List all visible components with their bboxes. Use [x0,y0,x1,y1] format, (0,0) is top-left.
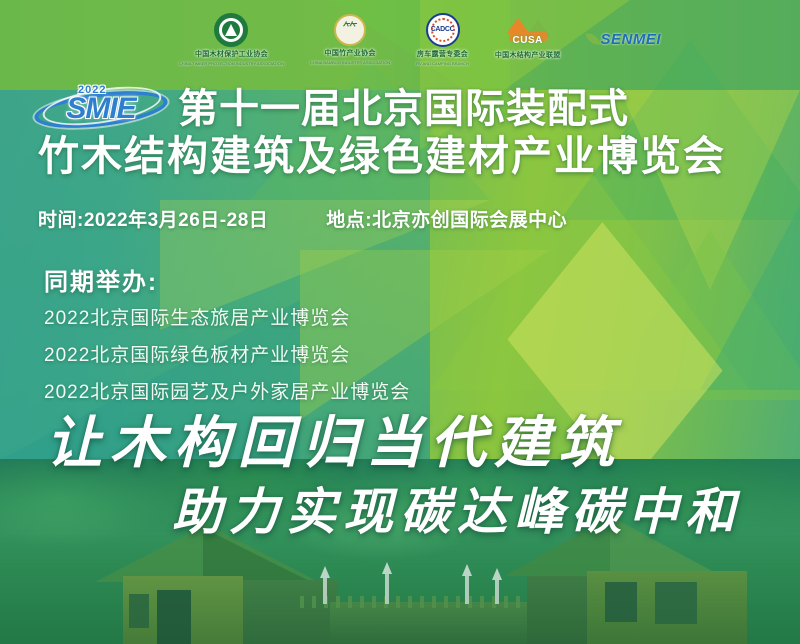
patio-umbrella-icon [320,566,330,604]
logo-bamboo-industry-association: ⺮ 中国竹产业协会 CHINA BAMBOO INDUSTRY ASSOCIAT… [310,14,390,65]
cabin-window [129,594,149,628]
pine-tree-circle-icon [214,13,248,47]
house-roof-icon: CUSA [505,18,551,48]
patio-umbrella-icon [462,564,472,604]
logo-senmei: SENMEI [587,31,662,48]
title-row-primary: 2022 SMIE 第十一届北京国际装配式 [0,86,800,132]
logo-mark-text: CUSA [505,35,551,46]
expo-poster: 中国木材保护工业协会 CHINA TIMBER PROTECTION INDUS… [0,0,800,644]
smie-logo: 2022 SMIE [32,86,172,132]
slogan-line1: 让木构回归当代建筑 [0,415,800,471]
event-meta: 时间:2022年3月26日-28日 地点:北京亦创国际会展中心 [38,205,778,232]
logo-caption: 房车露营专委会 [417,49,468,59]
title-block: 2022 SMIE 第十一届北京国际装配式 竹木结构建筑及绿色建材产业博览会 [0,86,800,180]
slogan-block: 让木构回归当代建筑 助力实现碳达峰碳中和 [0,415,800,537]
logo-subcaption: CHINA BAMBOO INDUSTRY ASSOCIATION [310,60,390,65]
concurrent-event-item: 2022北京国际生态旅居产业博览会 [44,309,410,328]
page-title-line2: 竹木结构建筑及绿色建材产业博览会 [38,134,800,180]
sponsor-logo-strip: 中国木材保护工业协会 CHINA TIMBER PROTECTION INDUS… [0,0,800,78]
polygon-facet [700,150,800,390]
smie-acronym: SMIE [46,94,156,124]
logo-china-timber-protection-association: 中国木材保护工业协会 CHINA TIMBER PROTECTION INDUS… [179,13,284,66]
logo-caption: 中国竹产业协会 [325,48,376,58]
logo-cusa-wood-structure-alliance: CUSA 中国木结构产业联盟 [495,18,561,60]
cabin-door [157,590,191,644]
concurrent-events: 同期举办: 2022北京国际生态旅居产业博览会 2022北京国际绿色板材产业博览… [44,262,410,420]
bamboo-seal-icon: ⺮ [334,14,366,46]
cabin-wall-side [527,576,587,644]
slogan-line2: 助力实现碳达峰碳中和 [0,487,800,537]
cadcc-badge-icon: CADCC [426,13,460,47]
concurrent-event-item: 2022北京国际绿色板材产业博览会 [44,346,410,365]
page-title-line1: 第十一届北京国际装配式 [178,87,629,132]
event-venue: 地点:北京亦创国际会展中心 [326,205,567,232]
concurrent-events-heading: 同期举办: [44,262,410,297]
patio-umbrella-icon [492,568,502,604]
logo-subcaption: RV AND CAMPING BRANCH [416,61,469,66]
patio-umbrella-icon [382,562,392,604]
cabin-window [655,582,697,624]
concurrent-event-item: 2022北京国际园艺及户外家居产业博览会 [44,383,410,402]
logo-subcaption: CHINA TIMBER PROTECTION INDUSTRY ASSOCIA… [179,61,284,66]
logo-caption: 中国木材保护工业协会 [195,49,268,59]
logo-caption: 中国木结构产业联盟 [495,50,561,60]
logo-mark-text: SENMEI [601,31,662,48]
cabin-window [605,582,637,622]
event-date: 时间:2022年3月26日-28日 [38,205,268,232]
logo-cadcc-rv-camping-committee: CADCC 房车露营专委会 RV AND CAMPING BRANCH [416,13,469,66]
title-row-secondary: 竹木结构建筑及绿色建材产业博览会 [0,134,800,180]
senmei-leaf-icon: SENMEI [587,31,662,48]
